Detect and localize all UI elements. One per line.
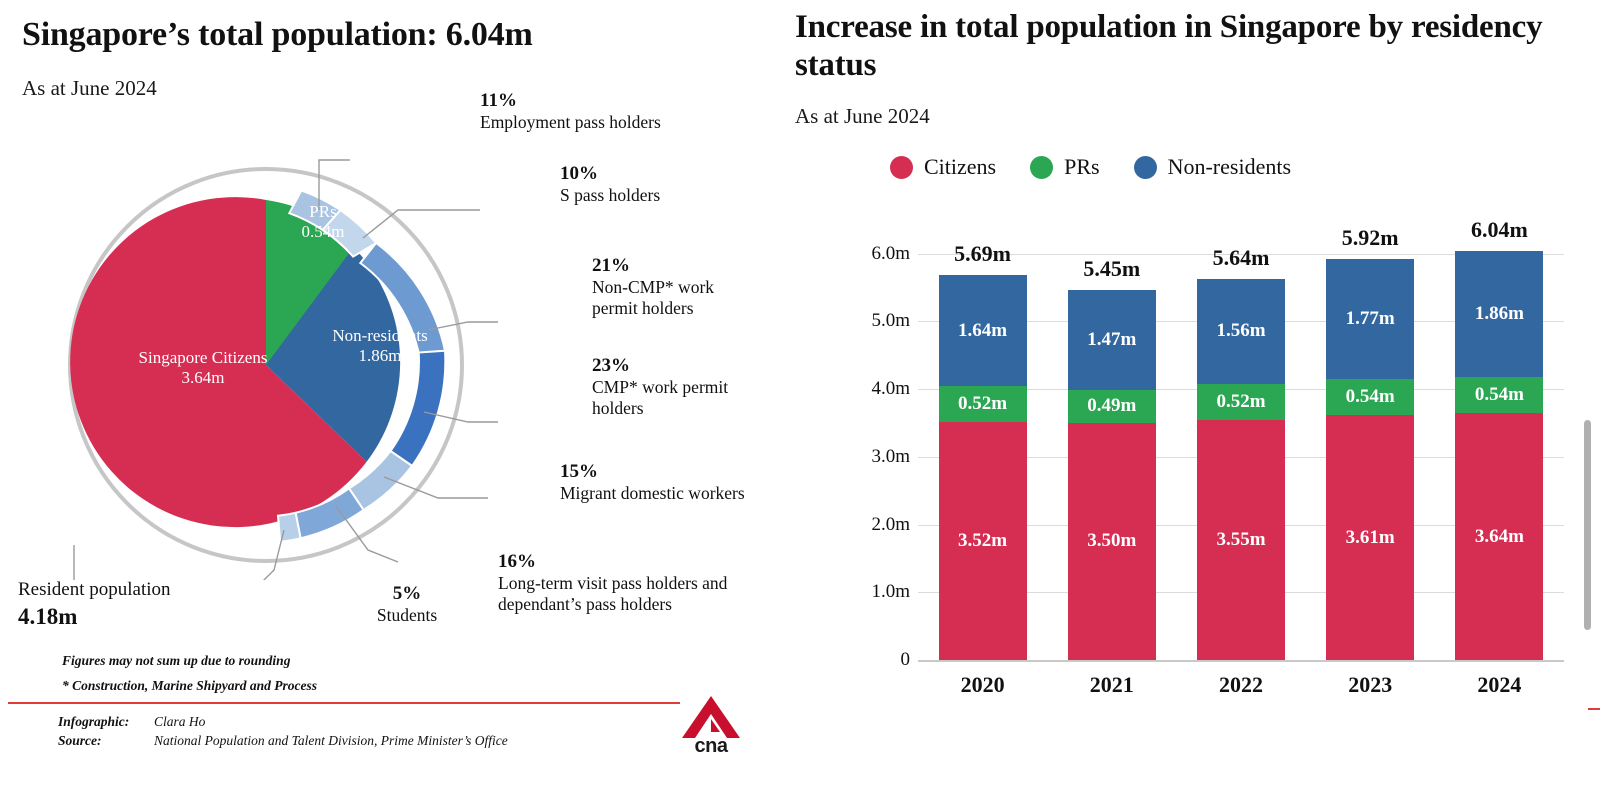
legend-item-prs[interactable]: PRs bbox=[1030, 154, 1099, 180]
bar-column-2024[interactable]: 3.64m0.54m1.86m6.04m bbox=[1455, 240, 1543, 660]
callout-students: 5% Students bbox=[352, 583, 462, 626]
callout-non-cmp-pct: 21% bbox=[592, 255, 762, 277]
bar-value-label: 3.50m bbox=[1087, 530, 1136, 552]
footnote-cmp: * Construction, Marine Shipyard and Proc… bbox=[62, 678, 317, 694]
cna-logo-left: cna bbox=[680, 694, 742, 756]
legend-dot-citizens bbox=[890, 156, 913, 179]
legend-dot-nonresidents bbox=[1134, 156, 1157, 179]
footnote-rounding: Figures may not sum up due to rounding bbox=[62, 653, 290, 669]
callout-non-cmp: 21% Non-CMP* work permit holders bbox=[592, 255, 762, 319]
y-tick-3.0m: 3.0m bbox=[840, 446, 910, 468]
bar-segment-prs-2021[interactable]: 0.49m bbox=[1068, 390, 1156, 423]
right-subtitle: As at June 2024 bbox=[795, 104, 930, 129]
vertical-scrollbar[interactable] bbox=[1584, 420, 1591, 630]
credit-source-key: Source: bbox=[58, 732, 154, 751]
callout-ltvp-desc: Long-term visit pass holders and dependa… bbox=[498, 573, 748, 615]
callout-s-pass: 10% S pass holders bbox=[560, 163, 760, 206]
left-panel-pie-chart: Singapore’s total population: 6.04m As a… bbox=[0, 0, 780, 801]
y-tick-1.0m: 1.0m bbox=[840, 581, 910, 603]
callout-s-pass-pct: 10% bbox=[560, 163, 760, 185]
stacked-bar-chart: 01.0m2.0m3.0m4.0m5.0m6.0m 3.52m0.52m1.64… bbox=[852, 228, 1564, 660]
x-axis-label-2022: 2022 bbox=[1219, 672, 1263, 698]
callout-cmp-pct: 23% bbox=[592, 355, 767, 377]
y-tick-4.0m: 4.0m bbox=[840, 378, 910, 400]
infographic-page: Singapore’s total population: 6.04m As a… bbox=[0, 0, 1600, 801]
cna-triangle-icon bbox=[680, 694, 742, 740]
bar-value-label: 3.55m bbox=[1216, 529, 1265, 551]
credit-left: Infographic: Clara Ho Source: National P… bbox=[58, 713, 508, 750]
legend-item-nonresidents[interactable]: Non-residents bbox=[1134, 154, 1291, 180]
callout-migrant-domestic-pct: 15% bbox=[560, 461, 760, 483]
credit-infographic-key: Infographic: bbox=[58, 713, 154, 732]
bar-segment-citizens-2021[interactable]: 3.50m bbox=[1068, 423, 1156, 660]
right-chart-title: Increase in total population in Singapor… bbox=[795, 8, 1555, 85]
legend-item-citizens[interactable]: Citizens bbox=[890, 154, 996, 180]
left-subtitle: As at June 2024 bbox=[22, 76, 157, 101]
resident-population-block: Resident population 4.18m bbox=[18, 578, 171, 632]
bar-column-2022[interactable]: 3.55m0.52m1.56m5.64m bbox=[1197, 240, 1285, 660]
bar-segment-non-residents-2020[interactable]: 1.64m bbox=[939, 275, 1027, 386]
callout-migrant-domestic-desc: Migrant domestic workers bbox=[560, 483, 760, 504]
cna-wordmark: cna bbox=[680, 735, 742, 758]
x-axis-label-2021: 2021 bbox=[1090, 672, 1134, 698]
callout-students-desc: Students bbox=[352, 605, 462, 626]
resident-population-label: Resident population bbox=[18, 578, 171, 602]
bar-total-2024: 6.04m bbox=[1471, 217, 1528, 243]
bar-value-label: 0.54m bbox=[1475, 384, 1524, 406]
bar-segment-non-residents-2021[interactable]: 1.47m bbox=[1068, 290, 1156, 390]
bar-value-label: 3.52m bbox=[958, 530, 1007, 552]
bar-total-2021: 5.45m bbox=[1083, 256, 1140, 282]
callout-s-pass-desc: S pass holders bbox=[560, 185, 760, 206]
callout-non-cmp-desc: Non-CMP* work permit holders bbox=[592, 277, 762, 319]
callout-employment-pass-pct: 11% bbox=[480, 90, 745, 112]
bar-column-2021[interactable]: 3.50m0.49m1.47m5.45m bbox=[1068, 240, 1156, 660]
bar-column-2020[interactable]: 3.52m0.52m1.64m5.69m bbox=[939, 240, 1027, 660]
x-axis-label-2024: 2024 bbox=[1477, 672, 1521, 698]
y-tick-5.0m: 5.0m bbox=[840, 310, 910, 332]
bar-total-2020: 5.69m bbox=[954, 241, 1011, 267]
legend-label-nonresidents: Non-residents bbox=[1168, 154, 1291, 180]
bar-segment-prs-2024[interactable]: 0.54m bbox=[1455, 377, 1543, 414]
divider-right bbox=[1588, 708, 1600, 710]
callout-migrant-domestic: 15% Migrant domestic workers bbox=[560, 461, 760, 504]
bar-segment-non-residents-2024[interactable]: 1.86m bbox=[1455, 251, 1543, 377]
x-axis-labels: 20202021202220232024 bbox=[852, 660, 1564, 700]
callout-ltvp: 16% Long-term visit pass holders and dep… bbox=[498, 551, 748, 615]
bar-value-label: 0.54m bbox=[1346, 386, 1395, 408]
bar-segment-prs-2023[interactable]: 0.54m bbox=[1326, 379, 1414, 416]
callout-cmp: 23% CMP* work permit holders bbox=[592, 355, 767, 419]
bar-segment-citizens-2022[interactable]: 3.55m bbox=[1197, 420, 1285, 660]
chart-plot-area: 3.52m0.52m1.64m5.69m3.50m0.49m1.47m5.45m… bbox=[918, 240, 1564, 660]
bar-value-label: 1.86m bbox=[1475, 303, 1524, 325]
right-panel-bar-chart: Increase in total population in Singapor… bbox=[790, 0, 1580, 801]
y-tick-2.0m: 2.0m bbox=[840, 514, 910, 536]
credit-infographic-value: Clara Ho bbox=[154, 713, 205, 732]
callout-ltvp-pct: 16% bbox=[498, 551, 748, 573]
callout-employment-pass: 11% Employment pass holders bbox=[480, 90, 745, 133]
callout-employment-pass-desc: Employment pass holders bbox=[480, 112, 745, 133]
pie-chart: Singapore Citizens 3.64m PRs 0.54m Non-r… bbox=[68, 150, 498, 580]
bar-column-2023[interactable]: 3.61m0.54m1.77m5.92m bbox=[1326, 240, 1414, 660]
bar-value-label: 0.49m bbox=[1087, 395, 1136, 417]
resident-population-value: 4.18m bbox=[18, 602, 171, 632]
bar-total-2022: 5.64m bbox=[1213, 245, 1270, 271]
x-axis-label-2023: 2023 bbox=[1348, 672, 1392, 698]
bar-segment-non-residents-2023[interactable]: 1.77m bbox=[1326, 259, 1414, 379]
bar-value-label: 1.56m bbox=[1216, 320, 1265, 342]
bar-value-label: 1.47m bbox=[1087, 329, 1136, 351]
bar-value-label: 3.61m bbox=[1346, 527, 1395, 549]
bar-segment-citizens-2024[interactable]: 3.64m bbox=[1455, 413, 1543, 660]
y-tick-6.0m: 6.0m bbox=[840, 243, 910, 265]
legend-label-citizens: Citizens bbox=[924, 154, 996, 180]
chart-legend: Citizens PRs Non-residents bbox=[890, 154, 1291, 180]
credit-source-value: National Population and Talent Division,… bbox=[154, 732, 508, 751]
bar-segment-prs-2020[interactable]: 0.52m bbox=[939, 386, 1027, 421]
page-title: Singapore’s total population: 6.04m bbox=[22, 16, 533, 53]
divider-left bbox=[8, 702, 680, 704]
legend-dot-prs bbox=[1030, 156, 1053, 179]
bar-segment-non-residents-2022[interactable]: 1.56m bbox=[1197, 279, 1285, 385]
legend-label-prs: PRs bbox=[1064, 154, 1099, 180]
bar-value-label: 3.64m bbox=[1475, 526, 1524, 548]
bar-segment-citizens-2020[interactable]: 3.52m bbox=[939, 422, 1027, 660]
bar-value-label: 1.77m bbox=[1346, 308, 1395, 330]
x-axis-label-2020: 2020 bbox=[961, 672, 1005, 698]
bar-segment-citizens-2023[interactable]: 3.61m bbox=[1326, 415, 1414, 660]
callout-cmp-desc: CMP* work permit holders bbox=[592, 377, 767, 419]
bar-value-label: 0.52m bbox=[1216, 391, 1265, 413]
bar-value-label: 1.64m bbox=[958, 320, 1007, 342]
bar-total-2023: 5.92m bbox=[1342, 225, 1399, 251]
bar-value-label: 0.52m bbox=[958, 393, 1007, 415]
ring-seg-students bbox=[278, 513, 301, 542]
callout-students-pct: 5% bbox=[352, 583, 462, 605]
bar-segment-prs-2022[interactable]: 0.52m bbox=[1197, 384, 1285, 419]
pie-chart-svg bbox=[68, 150, 498, 580]
